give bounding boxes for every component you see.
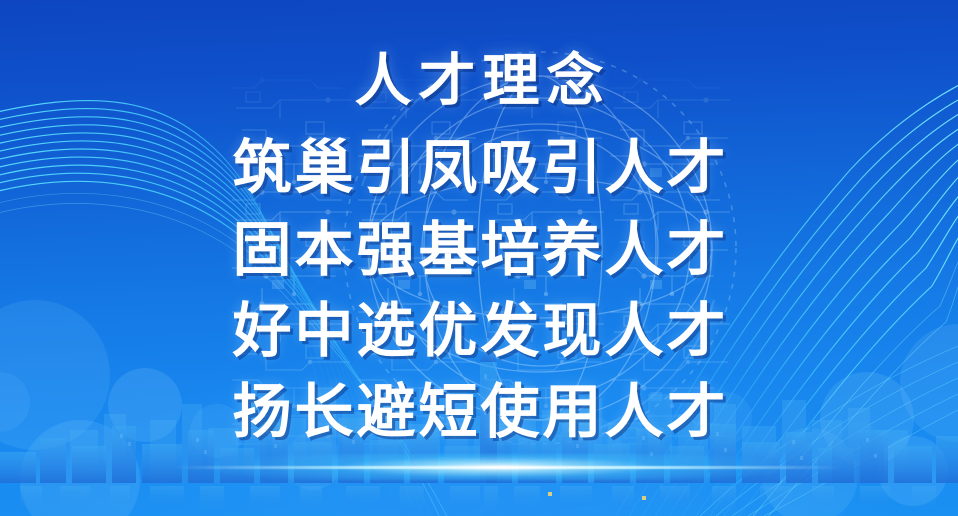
slogan-list: 筑巢引凤吸引人才 固本强基培养人才 好中选优发现人才 扬长避短使用人才 bbox=[229, 131, 728, 449]
page-title: 人才理念 bbox=[348, 52, 611, 111]
poster-text-block: 人才理念 筑巢引凤吸引人才 固本强基培养人才 好中选优发现人才 扬长避短使用人才 bbox=[0, 0, 958, 516]
slogan-line-3: 好中选优发现人才 bbox=[229, 294, 728, 368]
slogan-line-4: 扬长避短使用人才 bbox=[229, 375, 728, 449]
poster-canvas: 人才理念 筑巢引凤吸引人才 固本强基培养人才 好中选优发现人才 扬长避短使用人才 bbox=[0, 0, 958, 516]
slogan-line-2: 固本强基培养人才 bbox=[229, 213, 728, 287]
slogan-line-1: 筑巢引凤吸引人才 bbox=[229, 131, 728, 205]
